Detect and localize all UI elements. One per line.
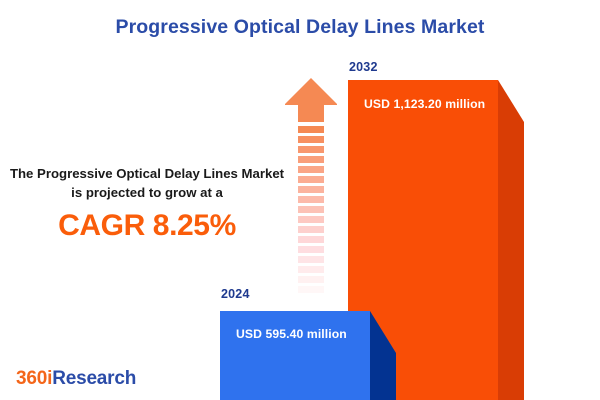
brand-logo-prefix: 360i [16,368,52,389]
growth-arrow-icon [284,77,338,299]
bar-2024-value-label: USD 595.40 million [236,327,347,341]
bar-2024-year-label: 2024 [221,287,250,301]
brand-logo: 360iResearch [16,368,136,390]
cagr-description: The Progressive Optical Delay Lines Mark… [8,165,286,202]
bar-2032-side-face [498,80,524,400]
bar-2024-bevel-shape [370,311,396,400]
brand-logo-suffix: Research [52,368,136,389]
growth-arrow-shape [284,77,338,299]
bar-2024-side-face [370,311,396,400]
cagr-value: CAGR 8.25% [8,209,286,243]
bar-2032-bevel-shape [498,80,524,400]
bar-2032-value-label: USD 1,123.20 million [364,97,485,111]
bar-2024-front-face [220,311,370,400]
infographic-canvas: Progressive Optical Delay Lines Market 2… [0,0,600,400]
cagr-callout: The Progressive Optical Delay Lines Mark… [8,165,286,243]
bar-2032-year-label: 2032 [349,60,378,74]
